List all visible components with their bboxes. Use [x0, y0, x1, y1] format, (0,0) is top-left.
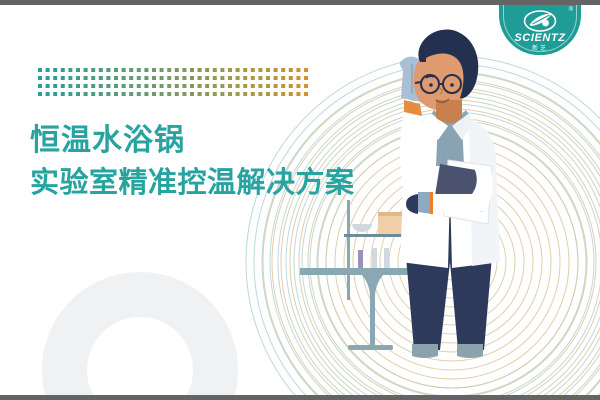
headline-line-1: 恒温水浴锅 — [30, 120, 355, 162]
promo-banner: 恒温水浴锅 实验室精准控温解决方案 — [0, 0, 600, 400]
logo-chinese-mark: 新芝 — [499, 43, 581, 52]
shoes — [412, 344, 483, 358]
soft-ring-decoration — [42, 272, 238, 400]
bottom-rail — [0, 395, 600, 400]
scientz-logo[interactable]: ® SCIENTZ 新芝 — [499, 0, 581, 55]
headline-block: 恒温水浴锅 实验室精准控温解决方案 — [30, 120, 355, 204]
head — [414, 30, 479, 123]
registered-symbol: ® — [569, 7, 573, 13]
headline-line-2: 实验室精准控温解决方案 — [30, 162, 355, 204]
dot-grid-decoration — [38, 68, 312, 98]
top-rail — [0, 0, 600, 5]
logo-mark-icon — [524, 10, 557, 32]
